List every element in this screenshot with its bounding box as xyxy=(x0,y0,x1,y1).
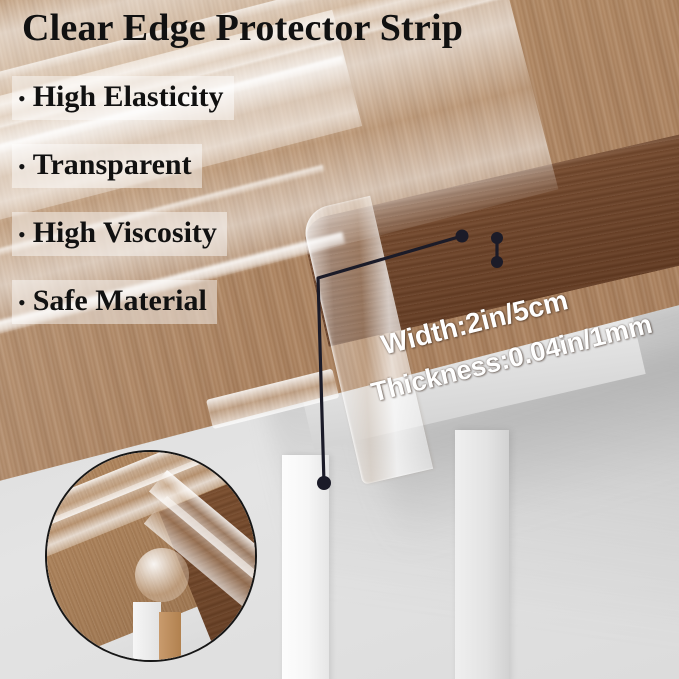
feature-label-high-elasticity: High Elasticity xyxy=(33,79,224,115)
corner-detail-inset xyxy=(45,450,257,662)
list-item: • Safe Material xyxy=(12,280,217,324)
bullet-dot-icon: • xyxy=(18,88,26,110)
table-leg-right xyxy=(455,430,509,679)
feature-label-safe-material: Safe Material xyxy=(33,283,207,319)
list-item: • High Viscosity xyxy=(12,212,227,256)
feature-label-transparent: Transparent xyxy=(33,147,192,183)
page-title: Clear Edge Protector Strip xyxy=(22,6,463,50)
bullet-dot-icon: • xyxy=(18,292,26,314)
list-item: • Transparent xyxy=(12,144,202,188)
list-item: • High Elasticity xyxy=(12,76,234,120)
feature-list: • High Elasticity • Transparent • High V… xyxy=(12,76,312,348)
product-image: Clear Edge Protector Strip • High Elasti… xyxy=(0,0,679,679)
table-leg-front xyxy=(282,455,329,679)
inset-table-leg-wood xyxy=(159,612,181,662)
inset-table-leg xyxy=(133,602,161,662)
bullet-dot-icon: • xyxy=(18,224,26,246)
inset-strip-rounded-corner xyxy=(135,548,189,602)
feature-label-high-viscosity: High Viscosity xyxy=(33,215,217,251)
bullet-dot-icon: • xyxy=(18,156,26,178)
